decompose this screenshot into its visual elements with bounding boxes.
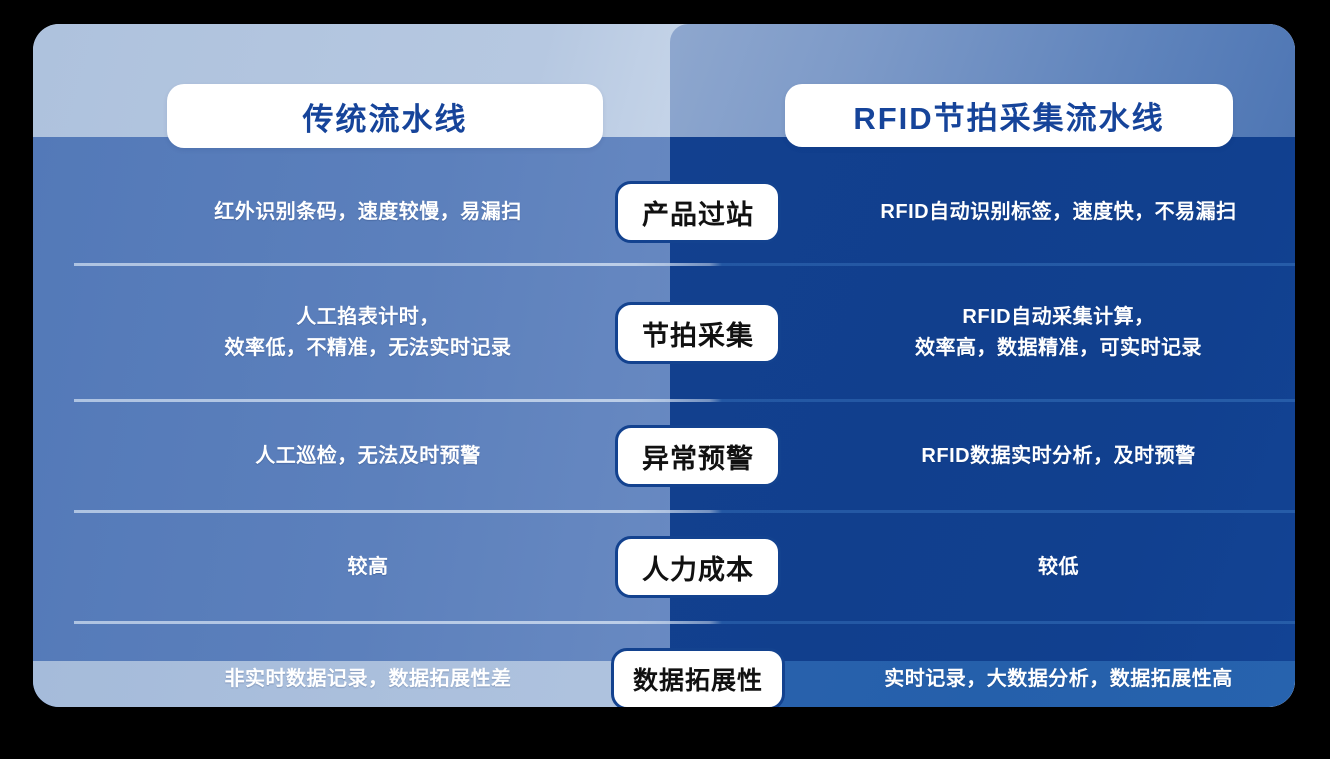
row-label-text: 数据拓展性 bbox=[633, 661, 763, 697]
row-label-pill: 异常预警 bbox=[615, 425, 781, 487]
row-label-pill: 节拍采集 bbox=[615, 302, 781, 364]
row-left-value: 较高 bbox=[66, 513, 670, 621]
row-label-text: 产品过站 bbox=[642, 193, 754, 232]
rfid-title-pill: RFID节拍采集流水线 bbox=[785, 84, 1233, 147]
table-row: 人工掐表计时， 效率低，不精准，无法实时记录 节拍采集 RFID自动采集计算， … bbox=[66, 266, 1295, 399]
traditional-title-text: 传统流水线 bbox=[303, 94, 468, 139]
row-left-value: 人工巡检，无法及时预警 bbox=[66, 402, 670, 510]
row-left-line: 非实时数据记录，数据拓展性差 bbox=[225, 664, 512, 695]
traditional-title-pill: 传统流水线 bbox=[167, 84, 603, 148]
row-label-pill: 数据拓展性 bbox=[611, 648, 785, 707]
row-left-line: 人工掐表计时， bbox=[296, 302, 440, 333]
row-right-value: 较低 bbox=[789, 513, 1295, 621]
row-right-line: RFID自动采集计算， bbox=[962, 302, 1154, 333]
comparison-card: 传统流水线 RFID节拍采集流水线 红外识别条码，速度较慢，易漏扫 产品过站 R… bbox=[33, 24, 1295, 707]
row-right-line: 实时记录，大数据分析，数据拓展性高 bbox=[884, 664, 1233, 695]
row-right-line: 效率高，数据精准，可实时记录 bbox=[915, 333, 1202, 364]
row-label-text: 节拍采集 bbox=[642, 314, 754, 353]
row-label-pill: 人力成本 bbox=[615, 536, 781, 598]
infographic-canvas: 传统流水线 RFID节拍采集流水线 红外识别条码，速度较慢，易漏扫 产品过站 R… bbox=[0, 0, 1330, 759]
row-left-line: 红外识别条码，速度较慢，易漏扫 bbox=[214, 197, 522, 228]
row-right-value: RFID自动采集计算， 效率高，数据精准，可实时记录 bbox=[789, 266, 1295, 399]
row-right-line: 较低 bbox=[1038, 552, 1079, 583]
row-right-line: RFID数据实时分析，及时预警 bbox=[921, 441, 1195, 472]
comparison-rows: 红外识别条码，速度较慢，易漏扫 产品过站 RFID自动识别标签，速度快，不易漏扫… bbox=[66, 161, 1295, 685]
row-left-line: 人工巡检，无法及时预警 bbox=[255, 441, 481, 472]
row-label-text: 异常预警 bbox=[642, 437, 754, 476]
table-row: 人工巡检，无法及时预警 异常预警 RFID数据实时分析，及时预警 bbox=[66, 402, 1295, 510]
rfid-title-text: RFID节拍采集流水线 bbox=[853, 93, 1164, 138]
row-left-value: 非实时数据记录，数据拓展性差 bbox=[66, 624, 670, 707]
table-row: 红外识别条码，速度较慢，易漏扫 产品过站 RFID自动识别标签，速度快，不易漏扫 bbox=[66, 161, 1295, 263]
row-left-value: 人工掐表计时， 效率低，不精准，无法实时记录 bbox=[66, 266, 670, 399]
row-right-value: 实时记录，大数据分析，数据拓展性高 bbox=[789, 624, 1295, 707]
row-left-line: 效率低，不精准，无法实时记录 bbox=[225, 333, 512, 364]
table-row: 非实时数据记录，数据拓展性差 数据拓展性 实时记录，大数据分析，数据拓展性高 bbox=[66, 624, 1295, 707]
row-label-text: 人力成本 bbox=[642, 548, 754, 587]
row-right-line: RFID自动识别标签，速度快，不易漏扫 bbox=[880, 197, 1236, 228]
row-label-pill: 产品过站 bbox=[615, 181, 781, 243]
row-left-value: 红外识别条码，速度较慢，易漏扫 bbox=[66, 161, 670, 263]
table-row: 较高 人力成本 较低 bbox=[66, 513, 1295, 621]
row-right-value: RFID数据实时分析，及时预警 bbox=[789, 402, 1295, 510]
row-left-line: 较高 bbox=[348, 552, 389, 583]
row-right-value: RFID自动识别标签，速度快，不易漏扫 bbox=[789, 161, 1295, 263]
